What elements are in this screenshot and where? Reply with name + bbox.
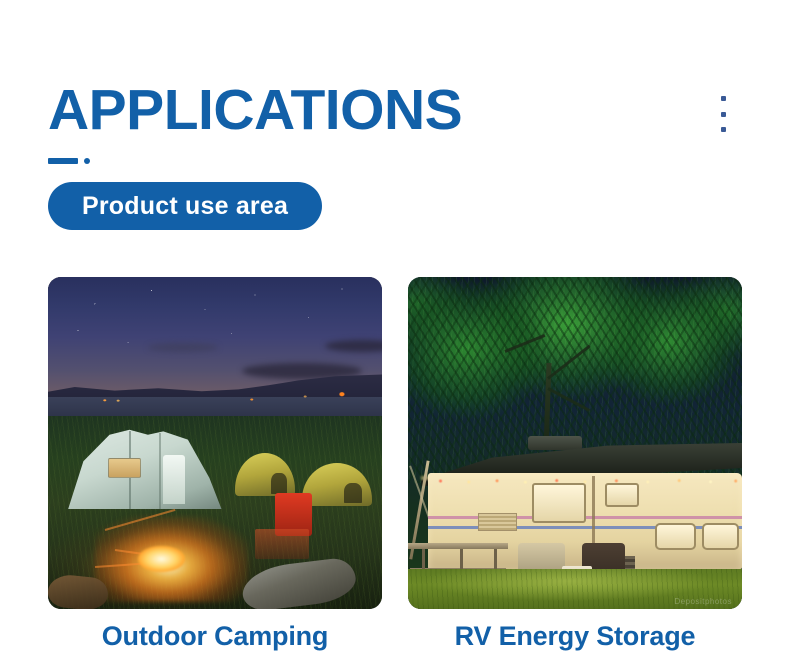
tent-body (68, 426, 222, 509)
menu-dot-1 (721, 96, 726, 101)
tent-vent (271, 473, 287, 494)
menu-dot-2 (721, 112, 726, 117)
rv-storage-hatch (702, 523, 739, 550)
rv-roof-ac-unit (528, 436, 581, 449)
page-header: APPLICATIONS Product use area (48, 82, 750, 139)
string-lights (428, 476, 742, 486)
table-top (408, 543, 508, 550)
dash-icon (48, 158, 78, 164)
application-card[interactable]: Depositphotos RV Energy Storage (408, 277, 742, 652)
card-caption: Outdoor Camping (48, 621, 382, 652)
rv-scene: Depositphotos (408, 277, 742, 609)
image-watermark: Depositphotos (674, 597, 732, 606)
rv-energy-storage-photo: Depositphotos (408, 277, 742, 609)
application-card-list: Outdoor Camping (48, 277, 742, 652)
more-vertical-icon[interactable] (712, 96, 734, 132)
application-card[interactable]: Outdoor Camping (48, 277, 382, 652)
tent-seam (159, 433, 161, 509)
rv-window (605, 483, 639, 507)
chair-frame (255, 529, 308, 559)
camping-scene (48, 277, 382, 609)
tent-window (108, 458, 141, 478)
page-title: APPLICATIONS (48, 82, 750, 139)
product-use-area-badge[interactable]: Product use area (48, 182, 322, 230)
large-white-tent (68, 426, 222, 509)
rv-storage-hatch (655, 523, 696, 550)
applications-page: APPLICATIONS Product use area (0, 0, 790, 664)
distant-lights (48, 387, 382, 407)
tent-door (163, 455, 185, 505)
tent-vent (344, 483, 362, 504)
rv-window (532, 483, 586, 524)
title-rule (48, 158, 90, 164)
menu-dot-3 (721, 127, 726, 132)
outdoor-camping-photo (48, 277, 382, 609)
card-caption: RV Energy Storage (408, 621, 742, 652)
yellow-tent (302, 463, 372, 506)
dot-icon (84, 158, 90, 164)
yellow-tent (235, 453, 295, 496)
rv-vent (478, 513, 517, 532)
